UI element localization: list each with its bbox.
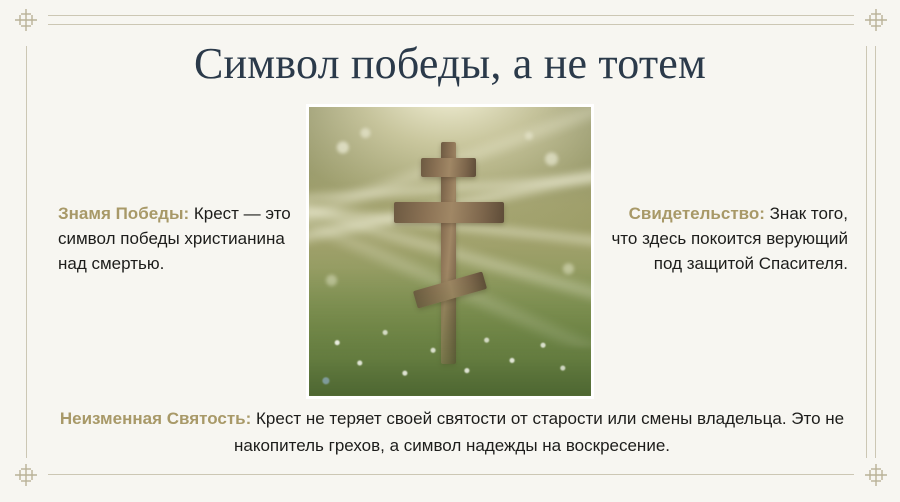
- cross-photo: [306, 104, 594, 399]
- frame-rule-right-outer: [875, 46, 876, 458]
- cross-top-bar: [421, 158, 476, 177]
- frame-rule-right-inner: [866, 46, 867, 458]
- cross-ornament-icon: [12, 461, 40, 489]
- text-block-left-lead: Знамя Победы:: [58, 204, 189, 223]
- text-block-right-lead: Свидетельство:: [629, 204, 765, 223]
- cross-ornament-icon: [862, 6, 890, 34]
- slide: Символ победы, а не тотем Знамя Победы: …: [0, 0, 900, 502]
- frame-rule-left: [26, 46, 27, 458]
- meadow-grass: [309, 269, 591, 396]
- cross-ornament-icon: [862, 461, 890, 489]
- sun-rays: [309, 107, 591, 347]
- cross-post: [441, 142, 456, 364]
- cross-main-bar: [394, 202, 504, 223]
- frame-rule-bottom: [48, 474, 854, 475]
- text-block-left: Знамя Победы: Крест — это символ победы …: [58, 201, 294, 276]
- text-block-bottom-lead: Неизменная Святость:: [60, 409, 251, 428]
- slide-title: Символ победы, а не тотем: [0, 38, 900, 90]
- cross-slanted-bar: [413, 271, 487, 308]
- bokeh-lights: [309, 107, 591, 396]
- cross-photo-canvas: [309, 107, 591, 396]
- cross-ornament-icon: [12, 6, 40, 34]
- text-block-right: Свидетельство: Знак того, что здесь поко…: [608, 201, 848, 276]
- frame-rule-top-inner: [48, 24, 854, 25]
- text-block-bottom-body: Крест не теряет своей святости от старос…: [234, 409, 844, 455]
- frame-rule-top-outer: [48, 15, 854, 16]
- text-block-bottom: Неизменная Святость: Крест не теряет сво…: [56, 405, 848, 459]
